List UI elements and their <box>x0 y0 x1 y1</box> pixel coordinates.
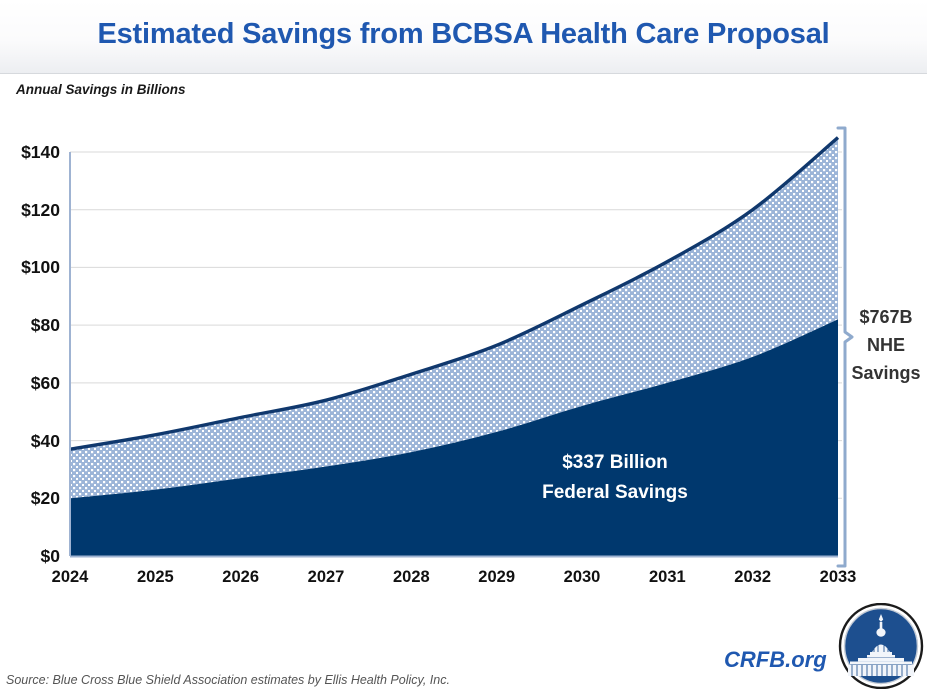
source-note: Source: Blue Cross Blue Shield Associati… <box>6 673 450 687</box>
x-axis-tick: 2027 <box>284 564 368 590</box>
x-axis-tick-group: 2024202520262027202820292030203120322033 <box>28 564 880 590</box>
nhe-savings-line3: Savings <box>847 359 925 387</box>
x-axis-tick: 2026 <box>199 564 283 590</box>
nhe-savings-callout: $767B NHE Savings <box>847 303 925 387</box>
y-axis-tick: $100 <box>4 255 60 279</box>
federal-savings-amount: $337 Billion <box>450 448 780 478</box>
federal-savings-caption: Federal Savings <box>450 478 780 508</box>
nhe-savings-amount: $767B <box>847 303 925 331</box>
x-axis-tick: 2033 <box>796 564 880 590</box>
x-axis-tick: 2029 <box>455 564 539 590</box>
x-axis-tick: 2024 <box>28 564 112 590</box>
x-axis-tick: 2025 <box>113 564 197 590</box>
y-axis-tick-group: $0$20$40$60$80$100$120$140 <box>4 140 64 568</box>
x-axis-tick: 2031 <box>625 564 709 590</box>
crfb-wordmark[interactable]: CRFB.org <box>724 647 827 673</box>
x-axis-tick: 2030 <box>540 564 624 590</box>
chart-page: Estimated Savings from BCBSA Health Care… <box>0 0 927 693</box>
y-axis-tick: $60 <box>4 371 60 395</box>
nhe-savings-line2: NHE <box>847 331 925 359</box>
y-axis-tick: $20 <box>4 486 60 510</box>
x-axis-tick: 2028 <box>369 564 453 590</box>
y-axis-tick: $120 <box>4 198 60 222</box>
area-chart: $0$20$40$60$80$100$120$140 2024202520262… <box>0 0 927 693</box>
y-axis-tick: $40 <box>4 429 60 453</box>
x-axis-tick: 2032 <box>711 564 795 590</box>
y-axis-tick: $80 <box>4 313 60 337</box>
capitol-dome-logo <box>838 603 924 689</box>
federal-savings-callout: $337 Billion Federal Savings <box>450 448 780 508</box>
y-axis-tick: $140 <box>4 140 60 164</box>
